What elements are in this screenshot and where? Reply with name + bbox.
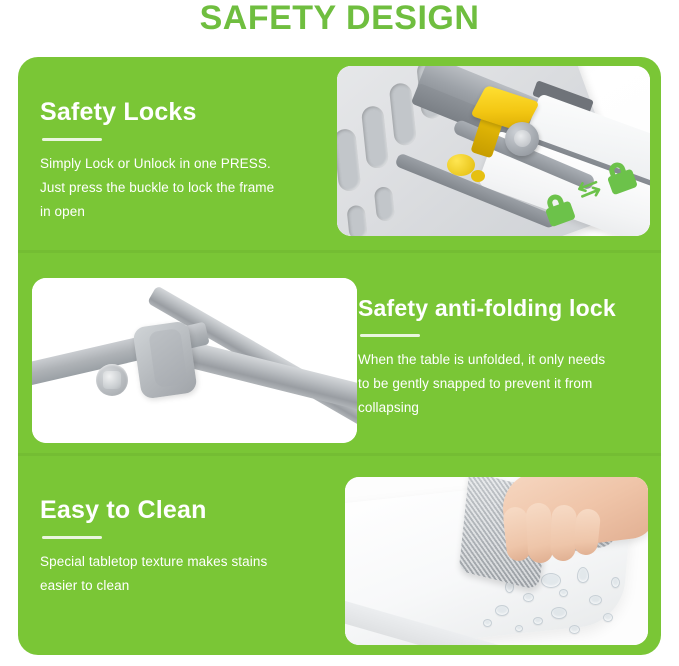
page-title: SAFETY DESIGN [0,0,679,38]
heading-rule [42,536,102,539]
panel-safety-anti-folding-lock: Safety anti-folding lock When the table … [18,253,661,455]
body-line: easier to clean [40,574,325,598]
panel-text-easy-to-clean: Easy to Clean Special tabletop texture m… [40,495,325,598]
body-line: Simply Lock or Unlock in one PRESS. [40,152,325,176]
unlock-icon-right [603,160,638,195]
body-line: When the table is unfolded, it only need… [358,348,648,372]
panel-text-anti-folding: Safety anti-folding lock When the table … [358,293,648,420]
panel-heading-safety-locks: Safety Locks [40,97,325,127]
heading-rule [360,334,420,337]
body-line: Special tabletop texture makes stains [40,550,325,574]
heading-rule [42,138,102,141]
finger [550,505,577,562]
body-line: collapsing [358,396,648,420]
panel-body-anti-folding: When the table is unfolded, it only need… [358,348,648,420]
panel-text-safety-locks: Safety Locks Simply Lock or Unlock in on… [40,97,325,224]
hinge-lock-photo [32,278,357,443]
panel-safety-locks: Safety Locks Simply Lock or Unlock in on… [18,57,661,253]
buckle-lock-photo [337,66,650,236]
unlock-icon-left [541,190,576,227]
cleaning-tabletop-photo [345,477,648,645]
body-line: in open [40,200,325,224]
finger [525,502,553,563]
panel-body-easy-to-clean: Special tabletop texture makes stains ea… [40,550,325,598]
two-way-arrow-icon [578,179,601,201]
panel-heading-anti-folding: Safety anti-folding lock [358,293,648,323]
panel-body-safety-locks: Simply Lock or Unlock in one PRESS. Just… [40,152,325,224]
safety-design-board: Safety Locks Simply Lock or Unlock in on… [18,57,661,655]
body-line: to be gently snapped to prevent it from [358,372,648,396]
lock-unlock-indicator [534,160,644,232]
panel-heading-easy-to-clean: Easy to Clean [40,495,325,525]
body-line: Just press the buckle to lock the frame [40,176,325,200]
panel-easy-to-clean: Easy to Clean Special tabletop texture m… [18,455,661,655]
